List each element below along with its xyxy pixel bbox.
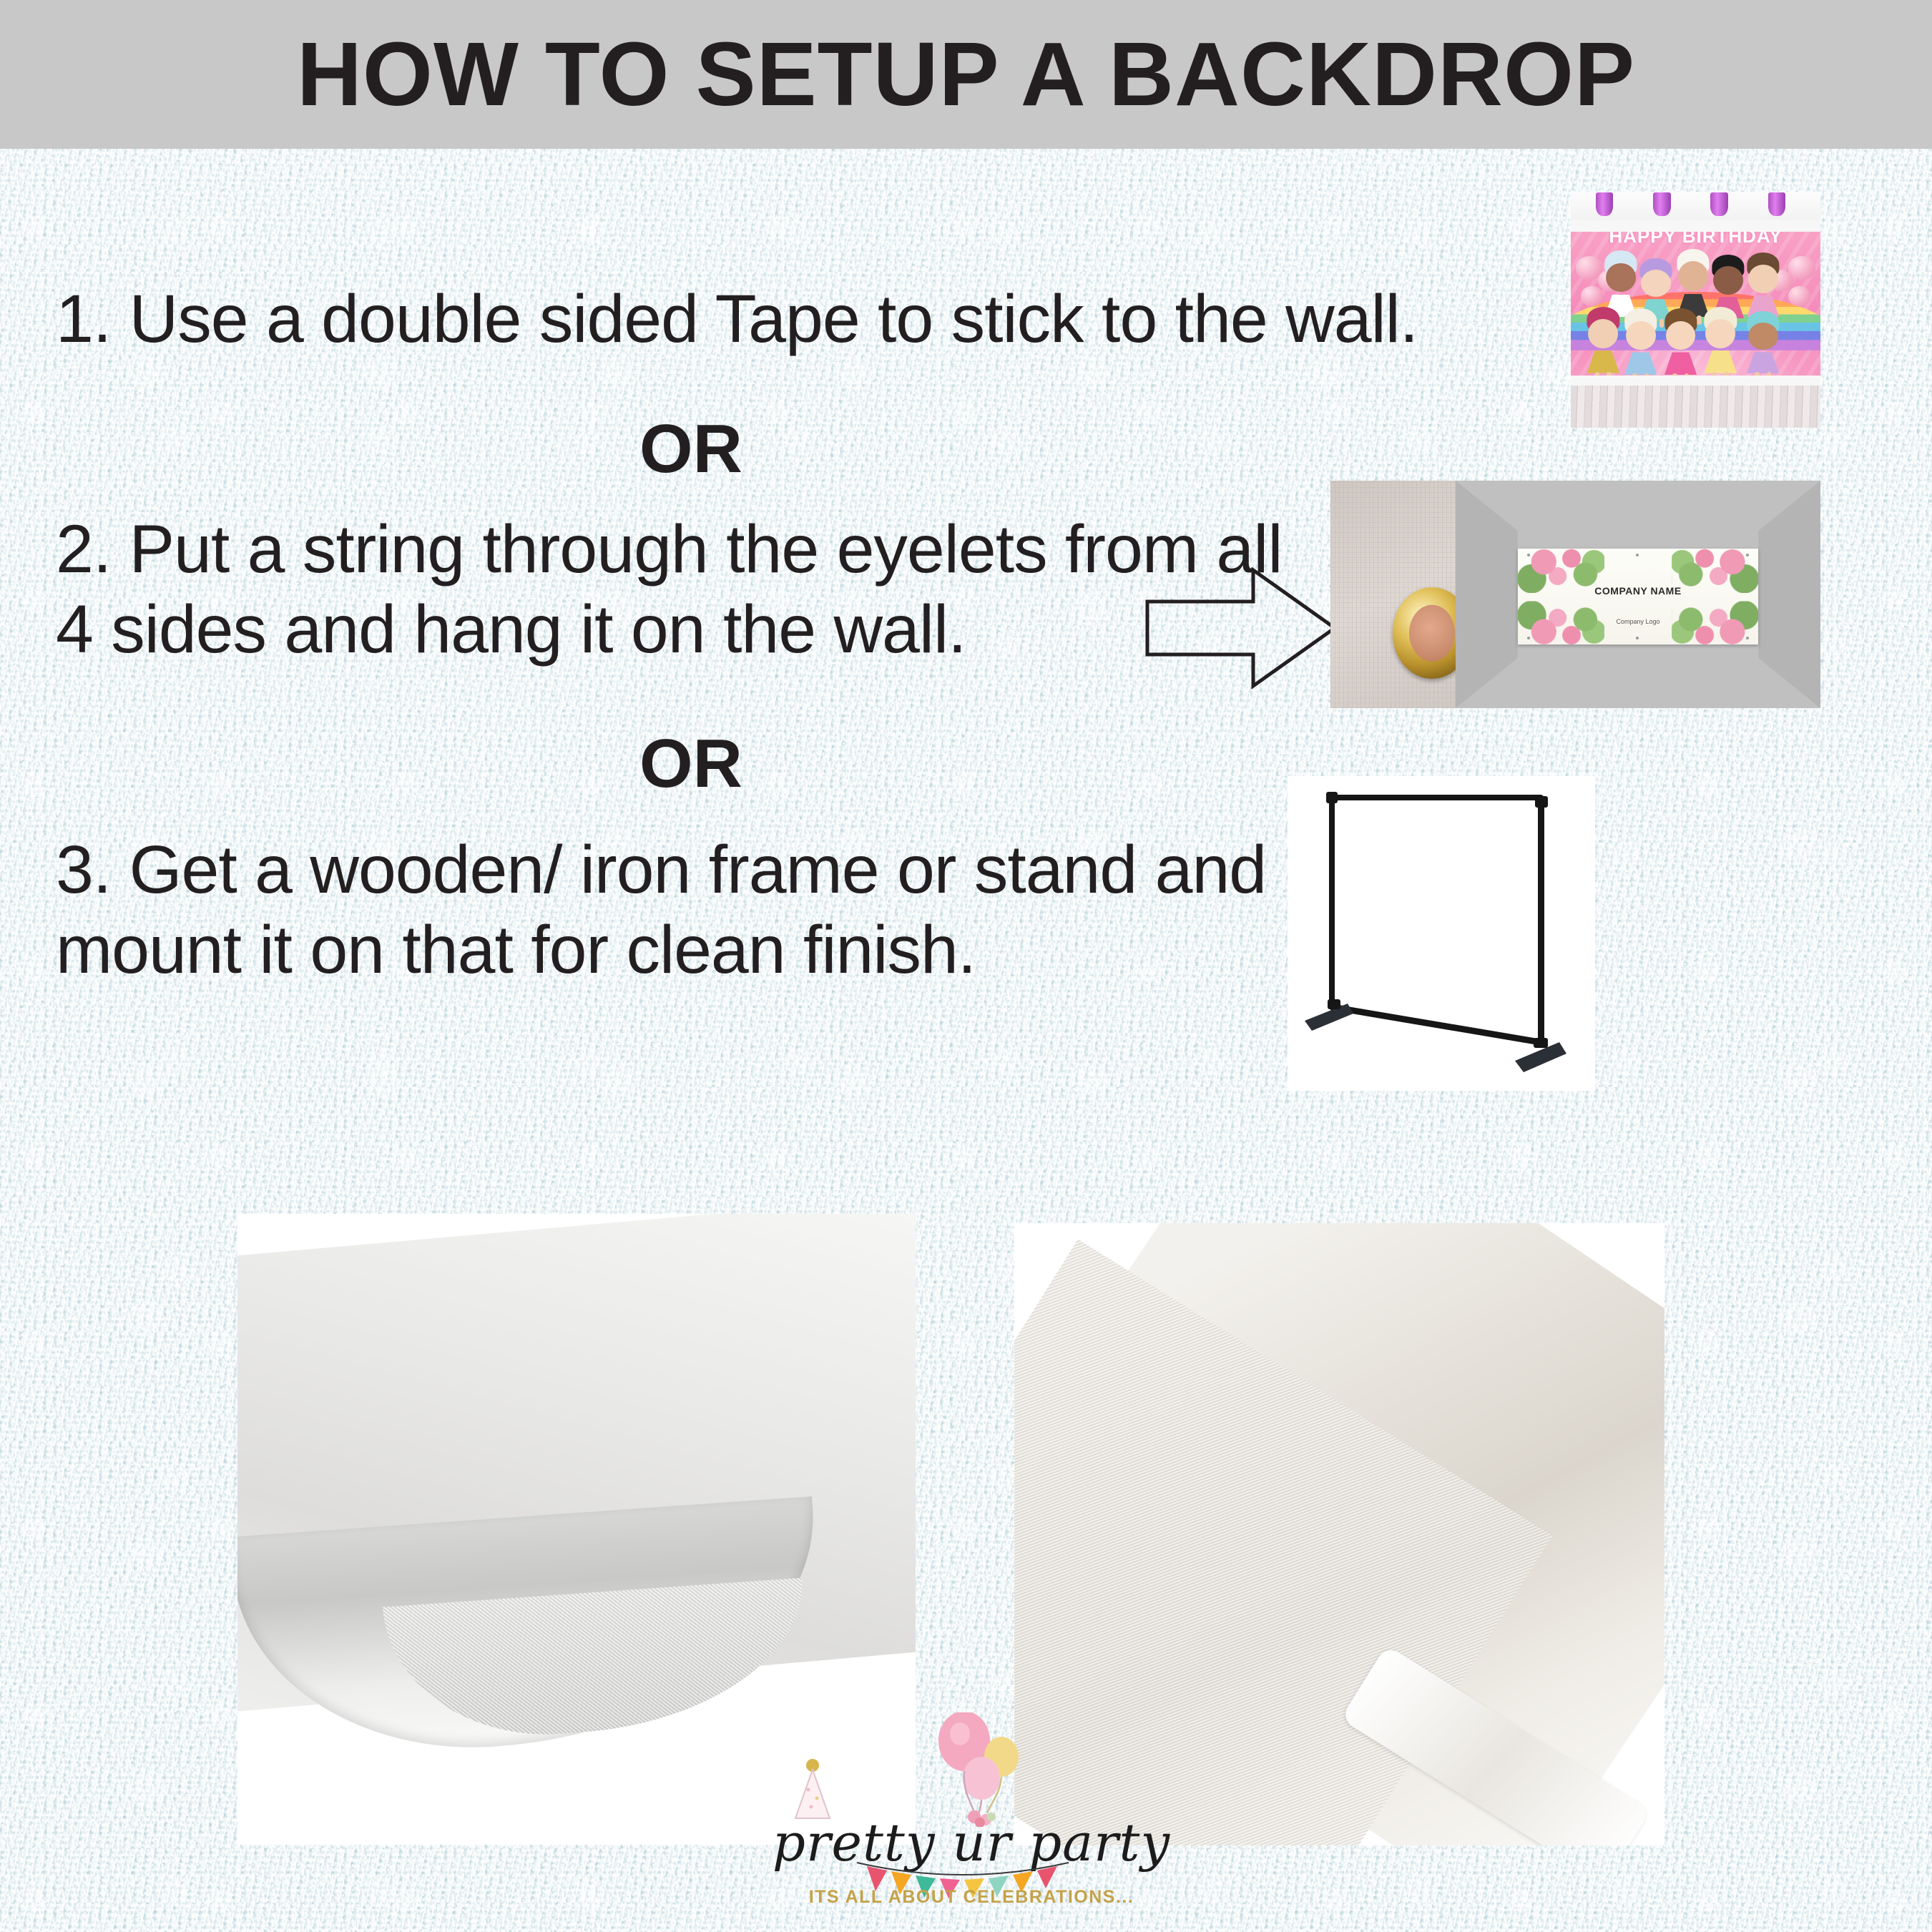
photo-lol-backdrop: HAPPY BIRTHDAY — [1571, 192, 1820, 428]
backdrop-pink-panel: HAPPY BIRTHDAY — [1571, 220, 1820, 386]
separator-or-1: OR — [639, 415, 742, 484]
balloons-icon — [930, 1712, 1037, 1827]
party-hat-icon — [791, 1758, 834, 1821]
header-banner: HOW TO SETUP A BACKDROP — [0, 0, 1932, 149]
clip-icon — [1653, 192, 1670, 216]
separator-or-2: OR — [639, 730, 742, 798]
clip-icon — [1768, 192, 1785, 216]
company-name-text: COMPANY NAME — [1518, 585, 1759, 597]
page-title: HOW TO SETUP A BACKDROP — [297, 29, 1635, 119]
clip-icon — [1710, 192, 1727, 216]
company-logo-text: Company Logo — [1518, 618, 1759, 625]
right-arrow-icon — [1144, 567, 1338, 689]
backdrop-clips — [1571, 192, 1820, 222]
backdrop-stand-icon — [1288, 776, 1595, 1091]
infographic-page: HOW TO SETUP A BACKDROP 1. Use a double … — [0, 0, 1932, 1932]
clip-icon — [1596, 192, 1613, 216]
photo-wall-banner: COMPANY NAME Company Logo — [1456, 481, 1820, 708]
company-banner: COMPANY NAME Company Logo — [1518, 549, 1759, 644]
photo-backdrop-stand — [1288, 776, 1595, 1091]
logo-tagline: ITS ALL ABOUT CELEBRATIONS... — [764, 1887, 1179, 1908]
step-3-text: 3. Get a wooden/ iron frame or stand and… — [56, 830, 1286, 990]
wood-floor — [1571, 386, 1820, 428]
brand-logo: pretty ur party ITS ALL ABOUT CELEBRATIO… — [764, 1717, 1179, 1917]
step-1-text: 1. Use a double sided Tape to stick to t… — [56, 279, 1587, 359]
